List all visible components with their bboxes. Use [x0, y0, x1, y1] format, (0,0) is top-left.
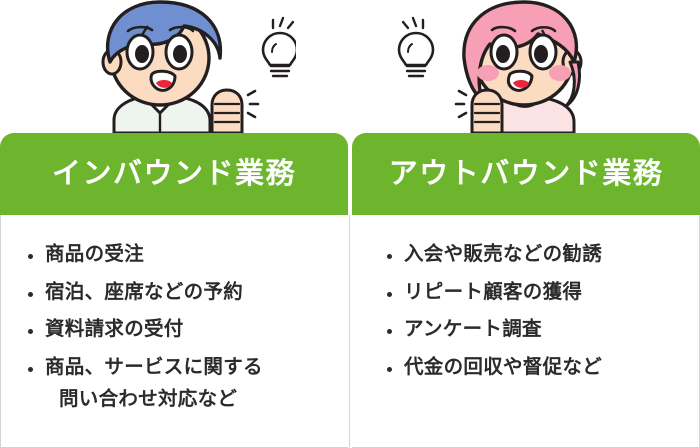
illustration-girl-with-pink-hair: [352, 0, 700, 133]
bullet-dot: [387, 329, 392, 334]
list-item: 商品、サービスに関する 問い合わせ対応など: [1, 358, 348, 410]
raised-fist-icon: [472, 90, 502, 133]
list-item: 入会や販売などの勧誘: [352, 245, 699, 265]
list-item-text: リピート顧客の獲得: [404, 281, 582, 303]
list-item-text: 入会や販売などの勧誘: [404, 243, 602, 265]
list-item: アンケート調査: [352, 320, 699, 340]
cheek-right: [549, 65, 571, 81]
bullet-dot: [387, 367, 392, 372]
list-outbound: 入会や販売などの勧誘 リピート顧客の獲得 アンケート調査 代金の回収や督促など: [352, 215, 699, 377]
list-item-text: 宿泊、座席などの予約: [45, 281, 243, 303]
list-item-text: 商品の受注: [45, 243, 144, 265]
list-item-text: 代金の回収や督促など: [404, 356, 602, 378]
bullet-dot: [28, 367, 33, 372]
list-item: 宿泊、座席などの予約: [1, 283, 348, 303]
comparison-board: インバウンド業務 商品の受注 宿泊、座席などの予約 資料請求の受付 商: [0, 0, 700, 448]
cheek-left: [477, 65, 499, 81]
lightbulb-icon: [263, 33, 296, 76]
lightbulb-sparkle: [273, 18, 293, 28]
header-band-outbound: アウトバウンド業務: [352, 133, 700, 215]
body-outbound: 入会や販売などの勧誘 リピート顧客の獲得 アンケート調査 代金の回収や督促など: [352, 215, 700, 448]
header-title-inbound: インバウンド業務: [52, 160, 296, 189]
list-item-text: アンケート調査: [404, 318, 542, 340]
illustration-boy-with-blue-hair: [0, 0, 348, 133]
list-item: 代金の回収や督促など: [352, 358, 699, 378]
list-item-text: 資料請求の受付: [45, 318, 184, 340]
list-item-text-continued: 問い合わせ対応など: [45, 390, 348, 410]
lightbulb-sparkle: [403, 18, 423, 28]
header-title-outbound: アウトバウンド業務: [389, 160, 664, 189]
list-inbound: 商品の受注 宿泊、座席などの予約 資料請求の受付 商品、サービスに関する 問い合…: [1, 215, 348, 410]
list-item-text: 商品、サービスに関する: [45, 356, 263, 378]
fist-sparkle: [456, 91, 466, 117]
header-band-inbound: インバウンド業務: [0, 133, 348, 215]
bullet-dot: [28, 329, 33, 334]
bullet-dot: [387, 292, 392, 297]
body-inbound: 商品の受注 宿泊、座席などの予約 資料請求の受付 商品、サービスに関する 問い合…: [0, 215, 348, 448]
bullet-dot: [28, 292, 33, 297]
list-item: 商品の受注: [1, 245, 348, 265]
list-item: 資料請求の受付: [1, 320, 348, 340]
lightbulb-icon: [399, 33, 433, 76]
column-inbound: インバウンド業務 商品の受注 宿泊、座席などの予約 資料請求の受付 商: [0, 0, 348, 448]
column-outbound: アウトバウンド業務 入会や販売などの勧誘 リピート顧客の獲得 アンケート調査: [352, 0, 700, 448]
bullet-dot: [28, 254, 33, 259]
bullet-dot: [387, 254, 392, 259]
column-divider: [349, 215, 350, 448]
fist-sparkle: [248, 91, 258, 117]
list-item: リピート顧客の獲得: [352, 283, 699, 303]
raised-fist-icon: [212, 90, 242, 133]
